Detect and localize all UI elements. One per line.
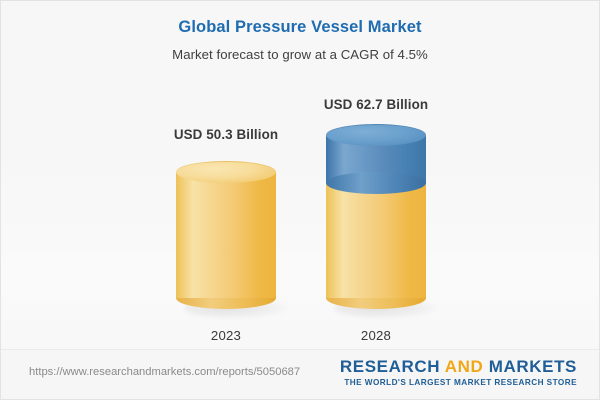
brand-logo-markets: MARKETS (483, 357, 577, 376)
chart-header: Global Pressure Vessel Market Market for… (1, 1, 599, 62)
axis-tick-label-2028: 2028 (286, 328, 466, 343)
brand-logo-and: AND (445, 357, 484, 376)
cylinder-bar-2028[interactable] (326, 124, 426, 309)
cylinder-body-2023 (176, 172, 276, 298)
cylinder-top-cap-2023 (176, 161, 276, 183)
bar-group-2028: USD 62.7 Billion 2028 (286, 89, 466, 349)
chart-footer: https://www.researchandmarkets.com/repor… (1, 350, 599, 399)
cylinder-bar-2023[interactable] (176, 161, 276, 309)
bar-value-label-2028: USD 62.7 Billion (286, 97, 466, 112)
brand-logo-research: RESEARCH (340, 357, 445, 376)
cylinder-segment-divider-2028 (326, 172, 426, 194)
brand-logo[interactable]: RESEARCH AND MARKETS THE WORLD'S LARGEST… (340, 358, 577, 387)
source-url-link[interactable]: https://www.researchandmarkets.com/repor… (29, 366, 300, 378)
chart-plot-area: USD 50.3 Billion 2023 USD 62.7 Billion 2… (1, 89, 599, 349)
chart-subtitle: Market forecast to grow at a CAGR of 4.5… (1, 47, 599, 62)
brand-logo-tagline: THE WORLD'S LARGEST MARKET RESEARCH STOR… (340, 378, 577, 387)
brand-logo-wordmark: RESEARCH AND MARKETS (340, 358, 577, 376)
page-title: Global Pressure Vessel Market (1, 18, 599, 38)
cylinder-top-cap-2028 (326, 124, 426, 146)
chart-card: Global Pressure Vessel Market Market for… (0, 0, 600, 400)
